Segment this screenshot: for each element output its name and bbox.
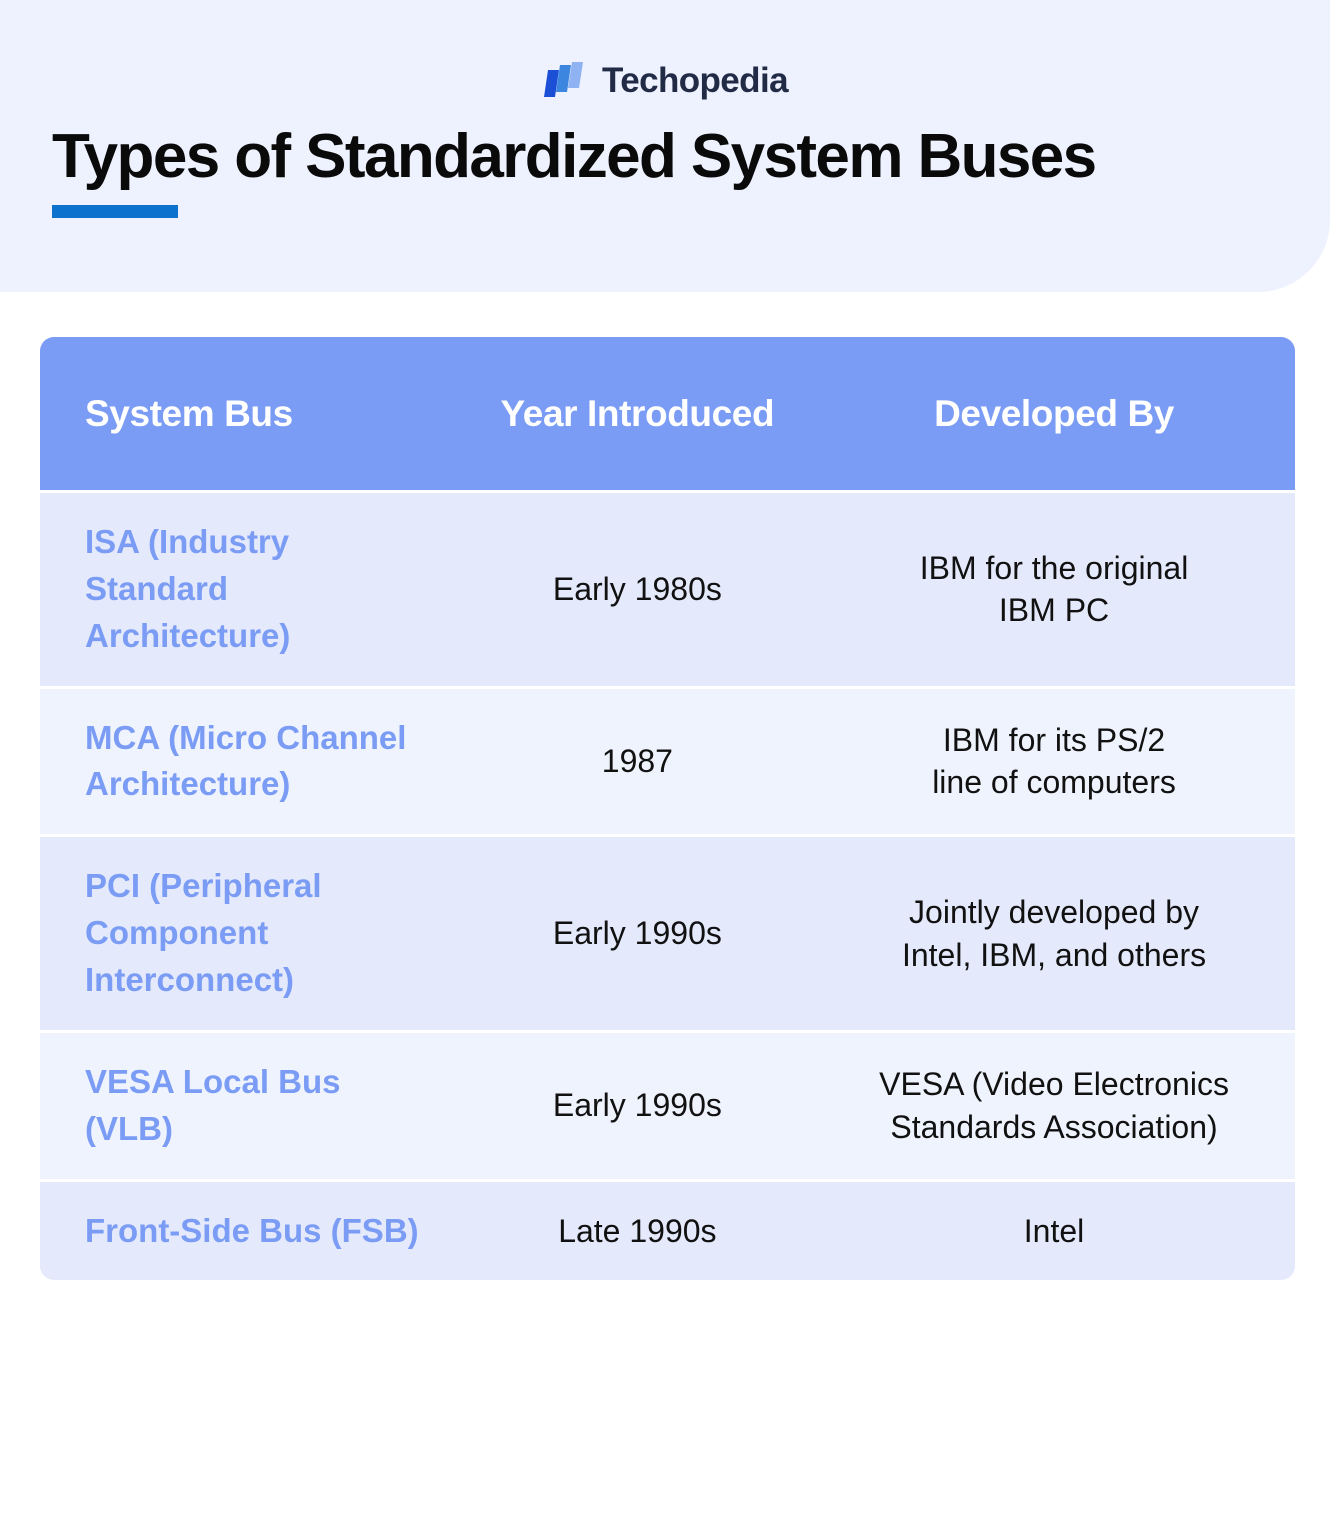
- title-accent-bar: [52, 205, 178, 218]
- title-block: Types of Standardized System Buses: [0, 124, 1330, 218]
- bus-table-container: System Bus Year Introduced Developed By …: [40, 334, 1295, 1283]
- column-header-year-introduced: Year Introduced: [462, 337, 813, 490]
- table-row: PCI (Peripheral Component Interconnect) …: [40, 837, 1295, 1030]
- techopedia-cards-logo-icon: [542, 58, 586, 102]
- bus-year: Early 1990s: [462, 1033, 813, 1179]
- page-title: Types of Standardized System Buses: [52, 124, 1290, 189]
- table-header: System Bus Year Introduced Developed By: [40, 337, 1295, 490]
- table-row: Front-Side Bus (FSB) Late 1990s Intel: [40, 1182, 1295, 1281]
- bus-name: VESA Local Bus (VLB): [40, 1033, 462, 1179]
- bus-name: ISA (Industry Standard Architecture): [40, 493, 462, 686]
- bus-year: Late 1990s: [462, 1182, 813, 1281]
- bus-year: Early 1980s: [462, 493, 813, 686]
- bus-developer-line: VESA (Video Electronics: [841, 1063, 1267, 1106]
- brand-lockup: Techopedia: [0, 0, 1330, 102]
- bus-developer-line: line of computers: [841, 761, 1267, 804]
- bus-developer: Intel: [813, 1182, 1295, 1281]
- bus-name: Front-Side Bus (FSB): [40, 1182, 462, 1281]
- table-header-row: System Bus Year Introduced Developed By: [40, 337, 1295, 490]
- bus-year: Early 1990s: [462, 837, 813, 1030]
- table-body: ISA (Industry Standard Architecture) Ear…: [40, 493, 1295, 1280]
- bus-developer-line: IBM for the original: [841, 547, 1267, 590]
- table-row: ISA (Industry Standard Architecture) Ear…: [40, 493, 1295, 686]
- bus-developer-line: Jointly developed by: [841, 891, 1267, 934]
- bus-year: 1987: [462, 689, 813, 835]
- bus-developer-line: Standards Association): [841, 1106, 1267, 1149]
- system-bus-table: System Bus Year Introduced Developed By …: [40, 334, 1295, 1283]
- bus-developer-line: IBM for its PS/2: [841, 719, 1267, 762]
- bus-developer-line: Intel: [841, 1210, 1267, 1253]
- bus-name: PCI (Peripheral Component Interconnect): [40, 837, 462, 1030]
- column-header-system-bus: System Bus: [40, 337, 462, 490]
- bus-developer: IBM for its PS/2 line of computers: [813, 689, 1295, 835]
- bus-developer: IBM for the original IBM PC: [813, 493, 1295, 686]
- column-header-developed-by: Developed By: [813, 337, 1295, 490]
- bus-developer-line: IBM PC: [841, 589, 1267, 632]
- bus-name: MCA (Micro Channel Architecture): [40, 689, 462, 835]
- table-row: MCA (Micro Channel Architecture) 1987 IB…: [40, 689, 1295, 835]
- brand-wordmark: Techopedia: [602, 63, 788, 98]
- header-panel: Techopedia Types of Standardized System …: [0, 0, 1330, 292]
- bus-developer: Jointly developed by Intel, IBM, and oth…: [813, 837, 1295, 1030]
- bus-developer: VESA (Video Electronics Standards Associ…: [813, 1033, 1295, 1179]
- bus-developer-line: Intel, IBM, and others: [841, 934, 1267, 977]
- table-row: VESA Local Bus (VLB) Early 1990s VESA (V…: [40, 1033, 1295, 1179]
